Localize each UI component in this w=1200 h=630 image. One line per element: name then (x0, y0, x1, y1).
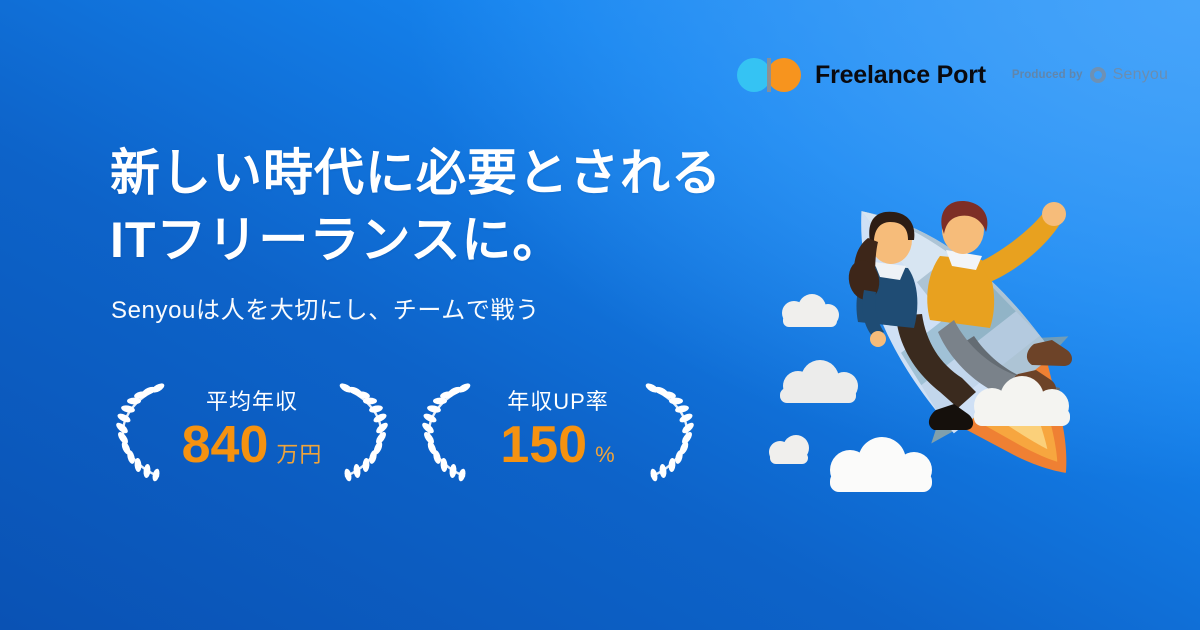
cloud-icon (830, 437, 932, 492)
stat-content: 平均年収 840 万円 (166, 384, 338, 473)
headline-line-2: ITフリーランスに。 (110, 207, 722, 274)
stat-unit: 万円 (276, 437, 322, 469)
brand-name: Freelance Port (815, 61, 986, 90)
page-title: 新しい時代に必要とされる ITフリーランスに。 (110, 140, 722, 273)
headline-line-1: 新しい時代に必要とされる (110, 140, 722, 207)
produced-by-label: Produced by (1012, 69, 1083, 81)
stat-value: 150 (500, 418, 587, 473)
hero-banner: Freelance Port Produced by Senyou 新しい時代に… (0, 0, 1200, 630)
laurel-wreath-icon (414, 378, 476, 486)
rocket-with-two-people-illustration (718, 120, 1188, 520)
stat-value: 840 (182, 418, 269, 473)
stat-label: 平均年収 (206, 384, 298, 416)
brand-bar: Freelance Port Produced by Senyou (737, 58, 1168, 92)
laurel-wreath-icon (640, 378, 702, 486)
laurel-wreath-icon (334, 378, 396, 486)
two-overlapping-circles-logo (737, 58, 801, 92)
subheadline: Senyouは人を大切にし、チームで戦う (111, 290, 540, 325)
partner-name: Senyou (1113, 66, 1168, 84)
stat-badge-average-income: 平均年収 840 万円 (108, 374, 396, 490)
stats-group: 平均年収 840 万円 (108, 374, 702, 490)
cloud-icon (769, 435, 809, 464)
laurel-wreath-icon (108, 378, 170, 486)
senyou-ring-icon (1090, 67, 1106, 83)
stat-content: 年収UP率 150 % (472, 384, 644, 473)
stat-label: 年収UP率 (507, 384, 609, 416)
stat-badge-income-up-rate: 年収UP率 150 % (414, 374, 702, 490)
produced-by-group: Produced by Senyou (1012, 66, 1168, 84)
cloud-icon (780, 360, 858, 403)
stat-unit: % (595, 442, 616, 468)
cloud-icon (782, 294, 839, 327)
